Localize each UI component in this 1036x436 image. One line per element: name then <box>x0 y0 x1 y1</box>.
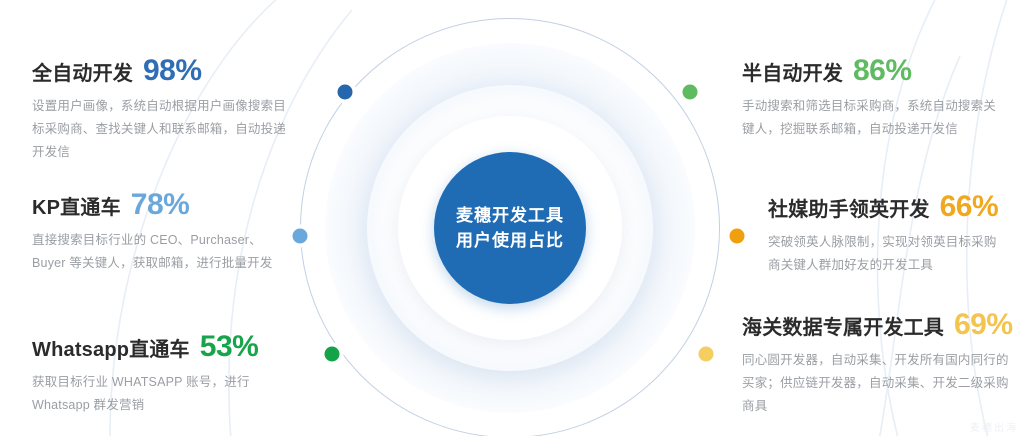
stat-title-customs: 海关数据专属开发工具 <box>742 311 944 340</box>
stat-block-kp: KP直通车 78% 直接搜索目标行业的 CEO、Purchaser、Buyer … <box>32 190 294 275</box>
stat-block-customs: 海关数据专属开发工具 69% 同心圆开发器，自动采集、开发所有国内同行的买家；供… <box>742 310 1010 418</box>
watermark-text: 麦穗出海 <box>970 419 1018 434</box>
stat-title-whatsapp: Whatsapp直通车 <box>32 333 190 362</box>
node-dot-auto[interactable] <box>338 85 353 100</box>
center-title-line-2: 用户使用占比 <box>456 228 564 254</box>
stat-desc-linkedin: 突破领英人脉限制，实现对领英目标采购商关键人群加好友的开发工具 <box>768 231 1006 277</box>
stat-desc-whatsapp: 获取目标行业 WHATSAPP 账号，进行 Whatsapp 群发营销 <box>32 371 282 417</box>
stat-desc-auto: 设置用户画像，系统自动根据用户画像搜索目标采购商、查找关键人和联系邮箱，自动投递… <box>32 95 294 164</box>
concentric-rings: 麦穗开发工具 用户使用占比 <box>300 18 720 436</box>
stat-percent-customs: 69% <box>954 310 1013 340</box>
stat-block-semi: 半自动开发 86% 手动搜索和筛选目标采购商，系统自动搜索关键人，挖掘联系邮箱，… <box>742 56 1004 141</box>
stat-header-customs: 海关数据专属开发工具 69% <box>742 310 1010 340</box>
stat-header-semi: 半自动开发 86% <box>742 56 1004 86</box>
center-title-line-1: 麦穗开发工具 <box>456 203 564 229</box>
node-dot-linkedin[interactable] <box>730 229 745 244</box>
stat-percent-kp: 78% <box>131 190 190 220</box>
stat-header-auto: 全自动开发 98% <box>32 56 294 86</box>
node-dot-semi[interactable] <box>683 85 698 100</box>
stat-desc-kp: 直接搜索目标行业的 CEO、Purchaser、Buyer 等关键人，获取邮箱，… <box>32 229 294 275</box>
stat-title-linkedin: 社媒助手领英开发 <box>768 193 930 222</box>
infographic-canvas: 麦穗开发工具 用户使用占比 全自动开发 98% 设置用户画像，系统自动根据用户画… <box>0 0 1036 436</box>
stat-title-semi: 半自动开发 <box>742 57 843 86</box>
stat-percent-semi: 86% <box>853 56 912 86</box>
stat-desc-customs: 同心圆开发器，自动采集、开发所有国内同行的买家；供应链开发器，自动采集、开发二级… <box>742 349 1010 418</box>
node-dot-whatsapp[interactable] <box>325 347 340 362</box>
stat-percent-linkedin: 66% <box>940 192 999 222</box>
node-dot-kp[interactable] <box>293 229 308 244</box>
stat-title-kp: KP直通车 <box>32 191 121 220</box>
stat-block-whatsapp: Whatsapp直通车 53% 获取目标行业 WHATSAPP 账号，进行 Wh… <box>32 332 282 417</box>
node-dot-customs[interactable] <box>699 347 714 362</box>
stat-block-linkedin: 社媒助手领英开发 66% 突破领英人脉限制，实现对领英目标采购商关键人群加好友的… <box>768 192 1006 277</box>
stat-block-auto: 全自动开发 98% 设置用户画像，系统自动根据用户画像搜索目标采购商、查找关键人… <box>32 56 294 164</box>
stat-percent-whatsapp: 53% <box>200 332 259 362</box>
stat-header-whatsapp: Whatsapp直通车 53% <box>32 332 282 362</box>
stat-header-linkedin: 社媒助手领英开发 66% <box>768 192 1006 222</box>
stat-header-kp: KP直通车 78% <box>32 190 294 220</box>
center-circle: 麦穗开发工具 用户使用占比 <box>434 152 586 304</box>
stat-desc-semi: 手动搜索和筛选目标采购商，系统自动搜索关键人，挖掘联系邮箱，自动投递开发信 <box>742 95 1004 141</box>
stat-percent-auto: 98% <box>143 56 202 86</box>
stat-title-auto: 全自动开发 <box>32 57 133 86</box>
